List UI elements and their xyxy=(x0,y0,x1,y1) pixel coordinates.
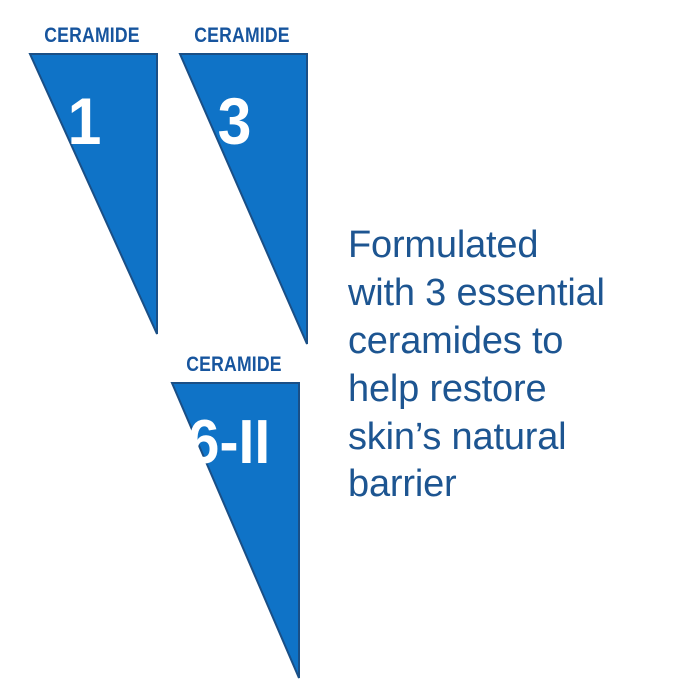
ceramide-number-3: 6-II xyxy=(160,412,298,474)
ceramide-wedge-2: CERAMIDE 3 xyxy=(162,25,322,345)
marketing-copy: Formulated with 3 essential ceramides to… xyxy=(348,222,648,509)
ceramide-number-2: 3 xyxy=(168,88,301,154)
ceramide-label-1: CERAMIDE xyxy=(25,25,159,46)
copy-line-4: help restore xyxy=(348,366,648,414)
copy-line-2: with 3 essential xyxy=(348,270,648,318)
copy-line-6: barrier xyxy=(348,461,648,509)
copy-line-5: skin’s natural xyxy=(348,414,648,462)
copy-line-3: ceramides to xyxy=(348,318,648,366)
ceramide-label-2: CERAMIDE xyxy=(175,25,309,46)
ceramide-infographic: CERAMIDE 1 CERAMIDE 3 CERAMIDE 6-II Form… xyxy=(0,0,679,679)
copy-line-1: Formulated xyxy=(348,222,648,270)
ceramide-label-3: CERAMIDE xyxy=(167,354,301,375)
ceramide-number-1: 1 xyxy=(18,88,151,154)
ceramide-wedge-3: CERAMIDE 6-II xyxy=(154,354,314,679)
ceramide-wedge-1: CERAMIDE 1 xyxy=(12,25,172,335)
